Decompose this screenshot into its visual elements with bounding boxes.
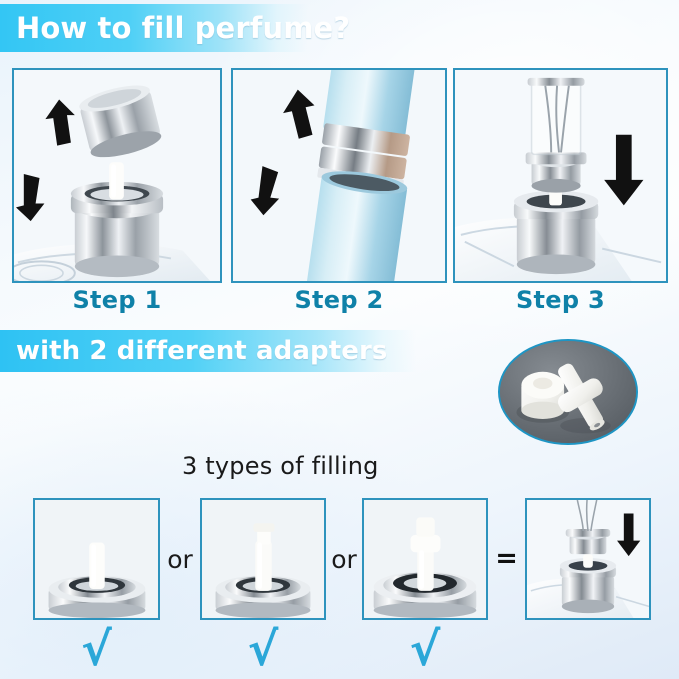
step-1-scene [14, 70, 220, 281]
separator-or-2: or [326, 545, 362, 574]
step-2-photo [231, 68, 447, 283]
header-banner: How to fill perfume? [0, 4, 308, 52]
filling-section-title: 3 types of filling [182, 452, 379, 480]
adapters-banner-title: with 2 different adapters [16, 336, 387, 366]
step-3-caption: Step 3 [453, 286, 668, 314]
separator-equals: = [488, 543, 525, 574]
header-title: How to fill perfume? [16, 11, 350, 45]
adapters-image [500, 341, 636, 443]
step-3-scene [455, 70, 666, 281]
filling-option-1-photo [33, 498, 160, 620]
filling-option-3-photo [362, 498, 488, 620]
step-2-scene [233, 70, 445, 281]
separator-or-1: or [160, 545, 200, 574]
step-1-photo [12, 68, 222, 283]
adapters-banner: with 2 different adapters [0, 330, 416, 372]
filling-option-3-check: √ [362, 626, 488, 672]
step-3-photo [453, 68, 668, 283]
filling-option-2-check: √ [200, 626, 326, 672]
filling-option-2-photo [200, 498, 326, 620]
infographic-canvas: How to fill perfume? [0, 0, 679, 679]
filling-option-1-check: √ [33, 626, 160, 672]
step-1-caption: Step 1 [12, 286, 222, 314]
step-2-caption: Step 2 [231, 286, 447, 314]
adapters-oval-inset [498, 339, 638, 445]
filling-result-photo [525, 498, 651, 620]
